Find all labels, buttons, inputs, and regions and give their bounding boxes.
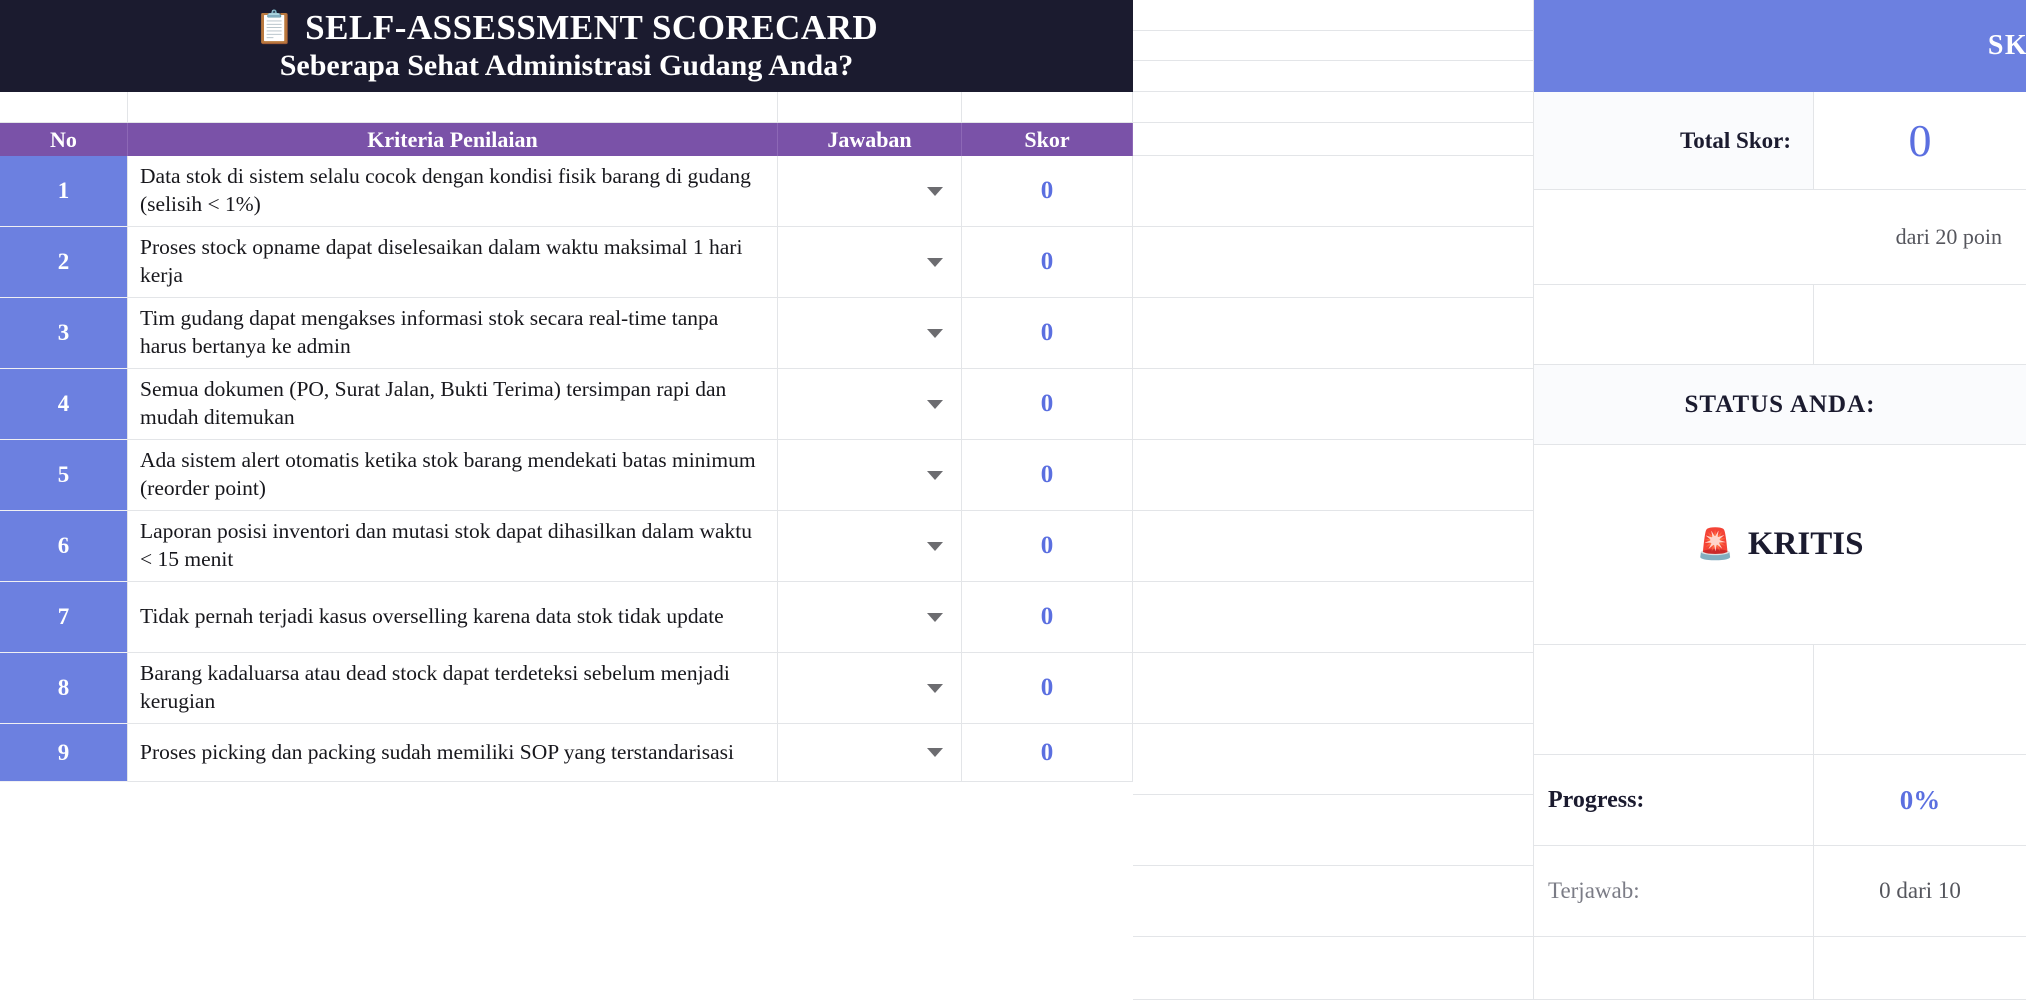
banner-title-line: 📋 SELF-ASSESSMENT SCORECARD — [255, 10, 878, 47]
max-points-note: dari 20 poin — [1896, 224, 2002, 250]
column-header-label: No — [50, 127, 77, 153]
row-number-7: 7 — [0, 582, 128, 653]
column-header-jawaban: Jawaban — [778, 123, 962, 156]
grid-cell — [1133, 123, 1534, 156]
chevron-down-icon[interactable] — [927, 187, 943, 196]
status-anda-value: KRITIS — [1748, 526, 1864, 563]
criteria-cell: Ada sistem alert otomatis ketika stok ba… — [128, 440, 778, 511]
scorecard-banner: 📋 SELF-ASSESSMENT SCORECARD Seberapa Seh… — [0, 0, 1133, 92]
terjawab-label-cell: Terjawab: — [1534, 846, 1814, 937]
skor-cell-5: 0 — [962, 440, 1133, 511]
row-number-6: 6 — [0, 511, 128, 582]
max-points-note-cell: dari 20 poin — [1534, 190, 2026, 285]
siren-icon: 🚨 — [1697, 527, 1734, 562]
row-number-label: 5 — [58, 462, 70, 488]
skor-value: 0 — [1041, 461, 1054, 489]
spreadsheet-canvas: 📋 SELF-ASSESSMENT SCORECARD Seberapa Seh… — [0, 0, 2026, 1000]
column-header-skor: Skor — [962, 123, 1133, 156]
criteria-cell: Tim gudang dapat mengakses informasi sto… — [128, 298, 778, 369]
criteria-cell: Barang kadaluarsa atau dead stock dapat … — [128, 653, 778, 724]
clipboard-icon: 📋 — [255, 11, 295, 45]
skor-cell-1: 0 — [962, 156, 1133, 227]
empty-cell — [128, 92, 778, 123]
progress-label-cell: Progress: — [1534, 755, 1814, 846]
terjawab-value: 0 dari 10 — [1879, 878, 1961, 904]
jawaban-dropdown-8[interactable] — [778, 653, 962, 724]
skor-value: 0 — [1041, 390, 1054, 418]
column-header-label: Skor — [1024, 127, 1069, 153]
grid-cell — [1133, 61, 1534, 92]
empty-cell — [0, 92, 128, 123]
row-number-5: 5 — [0, 440, 128, 511]
empty-cell — [778, 92, 962, 123]
column-header-label: Kriteria Penilaian — [367, 127, 537, 153]
grid-cell — [1133, 937, 1534, 1000]
row-number-2: 2 — [0, 227, 128, 298]
row-number-label: 9 — [58, 740, 70, 766]
status-anda-label-cell: STATUS ANDA: — [1534, 365, 2026, 445]
progress-value-cell: 0% — [1814, 755, 2026, 846]
column-header-no: No — [0, 123, 128, 156]
row-number-1: 1 — [0, 156, 128, 227]
grid-cell — [1133, 582, 1534, 653]
score-panel-title: SKOR ANDA — [1988, 30, 2026, 62]
row-number-label: 4 — [58, 391, 70, 417]
criteria-cell: Tidak pernah terjadi kasus overselling k… — [128, 582, 778, 653]
grid-cell — [1133, 227, 1534, 298]
row-number-label: 2 — [58, 249, 70, 275]
grid-cell — [1133, 795, 1534, 866]
row-number-label: 1 — [58, 178, 70, 204]
chevron-down-icon[interactable] — [927, 471, 943, 480]
row-number-9: 9 — [0, 724, 128, 782]
jawaban-dropdown-6[interactable] — [778, 511, 962, 582]
criteria-text: Tidak pernah terjadi kasus overselling k… — [140, 603, 724, 631]
jawaban-dropdown-5[interactable] — [778, 440, 962, 511]
criteria-text: Tim gudang dapat mengakses informasi sto… — [140, 305, 763, 361]
terjawab-label: Terjawab: — [1548, 878, 1640, 904]
grid-cell — [1133, 92, 1534, 123]
row-number-8: 8 — [0, 653, 128, 724]
chevron-down-icon[interactable] — [927, 684, 943, 693]
chevron-down-icon[interactable] — [927, 258, 943, 267]
criteria-cell: Laporan posisi inventori dan mutasi stok… — [128, 511, 778, 582]
grid-cell — [1133, 0, 1534, 31]
skor-value: 0 — [1041, 739, 1054, 767]
column-header-label: Jawaban — [827, 127, 911, 153]
total-skor-label-cell: Total Skor: — [1534, 92, 1814, 190]
row-number-label: 8 — [58, 675, 70, 701]
grid-cell — [1133, 511, 1534, 582]
page-subtitle: Seberapa Sehat Administrasi Gudang Anda? — [280, 49, 853, 82]
row-number-4: 4 — [0, 369, 128, 440]
progress-label: Progress: — [1548, 787, 1644, 814]
chevron-down-icon[interactable] — [927, 542, 943, 551]
skor-value: 0 — [1041, 603, 1054, 631]
criteria-text: Ada sistem alert otomatis ketika stok ba… — [140, 447, 763, 503]
empty-cell — [1534, 937, 1814, 1000]
terjawab-value-cell: 0 dari 10 — [1814, 846, 2026, 937]
grid-cell — [1133, 440, 1534, 511]
criteria-text: Data stok di sistem selalu cocok dengan … — [140, 163, 763, 219]
progress-value: 0% — [1900, 785, 1941, 816]
chevron-down-icon[interactable] — [927, 400, 943, 409]
criteria-cell: Semua dokumen (PO, Surat Jalan, Bukti Te… — [128, 369, 778, 440]
jawaban-dropdown-3[interactable] — [778, 298, 962, 369]
chevron-down-icon[interactable] — [927, 613, 943, 622]
skor-cell-6: 0 — [962, 511, 1133, 582]
criteria-text: Proses picking dan packing sudah memilik… — [140, 739, 734, 767]
status-anda-value-cell: 🚨KRITIS — [1534, 445, 2026, 645]
chevron-down-icon[interactable] — [927, 329, 943, 338]
skor-cell-8: 0 — [962, 653, 1133, 724]
row-number-3: 3 — [0, 298, 128, 369]
skor-value: 0 — [1041, 674, 1054, 702]
jawaban-dropdown-7[interactable] — [778, 582, 962, 653]
skor-cell-4: 0 — [962, 369, 1133, 440]
skor-cell-9: 0 — [962, 724, 1133, 782]
grid-cell — [1133, 369, 1534, 440]
status-anda-label: STATUS ANDA: — [1685, 391, 1876, 419]
total-skor-value-cell: 0 — [1814, 92, 2026, 190]
jawaban-dropdown-9[interactable] — [778, 724, 962, 782]
criteria-text: Proses stock opname dapat diselesaikan d… — [140, 234, 763, 290]
score-panel-header: SKOR ANDA — [1534, 0, 2026, 92]
skor-value: 0 — [1041, 177, 1054, 205]
criteria-cell: Proses picking dan packing sudah memilik… — [128, 724, 778, 782]
empty-cell — [1814, 285, 2026, 365]
jawaban-dropdown-4[interactable] — [778, 369, 962, 440]
column-header-kriteria-penilaian: Kriteria Penilaian — [128, 123, 778, 156]
jawaban-dropdown-1[interactable] — [778, 156, 962, 227]
skor-value: 0 — [1041, 248, 1054, 276]
total-skor-value: 0 — [1909, 114, 1932, 167]
criteria-cell: Data stok di sistem selalu cocok dengan … — [128, 156, 778, 227]
grid-cell — [1133, 653, 1534, 724]
grid-cell — [1133, 31, 1534, 61]
skor-value: 0 — [1041, 319, 1054, 347]
empty-cell — [1814, 645, 2026, 755]
row-number-label: 3 — [58, 320, 70, 346]
grid-cell — [1133, 156, 1534, 227]
skor-value: 0 — [1041, 532, 1054, 560]
empty-cell — [1534, 285, 1814, 365]
grid-cell — [1133, 724, 1534, 795]
total-skor-label: Total Skor: — [1680, 128, 1791, 154]
grid-cell — [1133, 866, 1534, 937]
skor-cell-3: 0 — [962, 298, 1133, 369]
empty-cell — [1534, 645, 1814, 755]
empty-cell — [962, 92, 1133, 123]
criteria-text: Semua dokumen (PO, Surat Jalan, Bukti Te… — [140, 376, 763, 432]
jawaban-dropdown-2[interactable] — [778, 227, 962, 298]
skor-cell-2: 0 — [962, 227, 1133, 298]
grid-cell — [1133, 298, 1534, 369]
page-title: SELF-ASSESSMENT SCORECARD — [305, 10, 878, 47]
empty-cell — [1814, 937, 2026, 1000]
criteria-text: Barang kadaluarsa atau dead stock dapat … — [140, 660, 763, 716]
chevron-down-icon[interactable] — [927, 748, 943, 757]
row-number-label: 7 — [58, 604, 70, 630]
row-number-label: 6 — [58, 533, 70, 559]
criteria-text: Laporan posisi inventori dan mutasi stok… — [140, 518, 763, 574]
criteria-cell: Proses stock opname dapat diselesaikan d… — [128, 227, 778, 298]
skor-cell-7: 0 — [962, 582, 1133, 653]
